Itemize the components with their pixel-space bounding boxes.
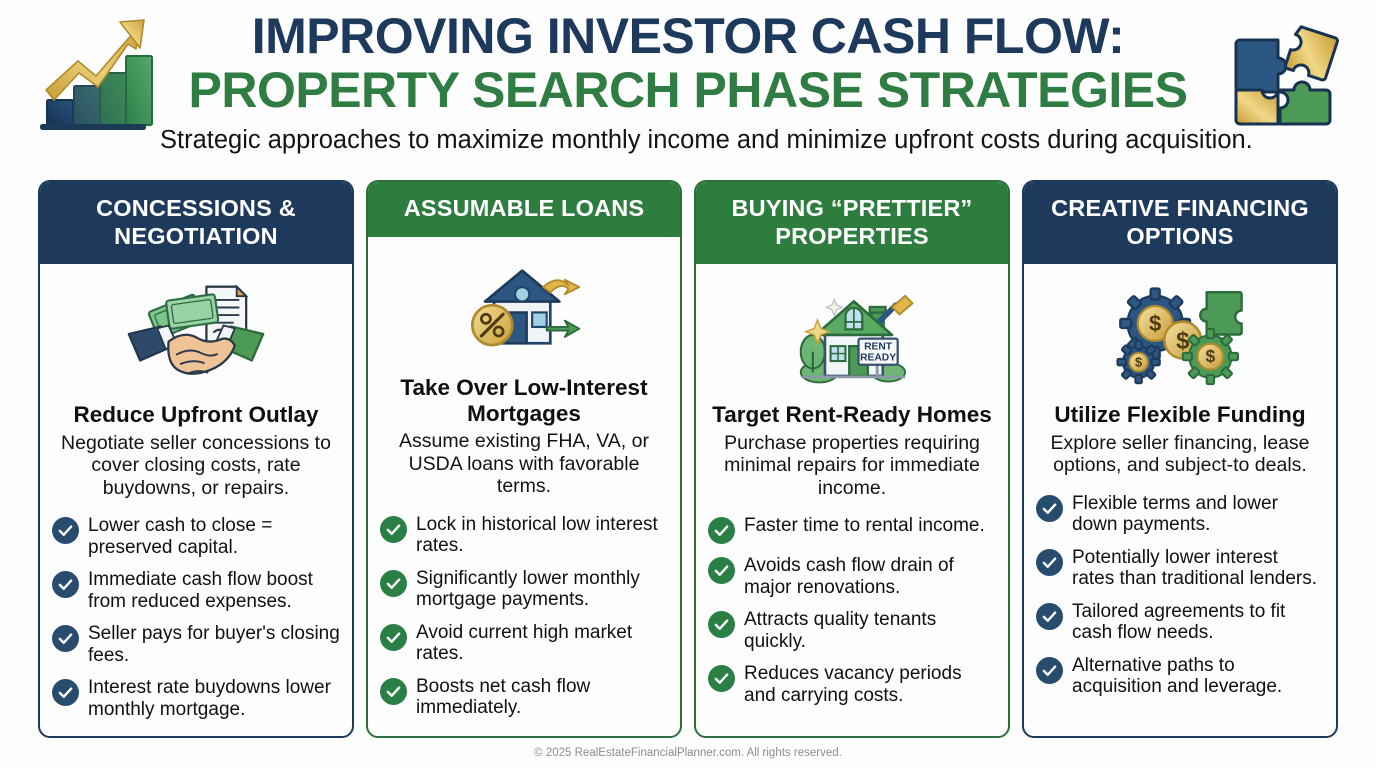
check-circle-icon — [1036, 657, 1063, 684]
list-item: Reduces vacancy periods and carrying cos… — [708, 663, 996, 706]
check-circle-icon — [52, 571, 79, 598]
card-buying-prettier-properties[interactable]: BUYING “PRETTIER” PROPERTIES — [694, 180, 1010, 738]
check-circle-icon — [1036, 495, 1063, 522]
check-circle-icon — [708, 611, 735, 638]
list-item: Attracts quality tenants quickly. — [708, 609, 996, 652]
check-circle-icon — [708, 665, 735, 692]
list-item: Lock in historical low interest rates. — [380, 514, 668, 557]
sign-line1: RENT — [864, 342, 893, 353]
list-item-label: Reduces vacancy periods and carrying cos… — [744, 663, 996, 706]
list-item-label: Attracts quality tenants quickly. — [744, 609, 996, 652]
list-item-label: Seller pays for buyer's closing fees. — [88, 623, 340, 666]
card-title: Target Rent-Ready Homes — [708, 402, 996, 428]
card-bullet-list: Flexible terms and lower down payments. … — [1036, 493, 1324, 724]
check-circle-icon — [380, 624, 407, 651]
card-description: Purchase properties requiring minimal re… — [708, 432, 996, 500]
list-item: Flexible terms and lower down payments. — [1036, 493, 1324, 536]
list-item-label: Interest rate buydowns lower monthly mor… — [88, 677, 340, 720]
check-circle-icon — [708, 517, 735, 544]
svg-text:$: $ — [1149, 311, 1161, 336]
list-item-label: Significantly lower monthly mortgage pay… — [416, 568, 668, 611]
card-concessions-negotiation[interactable]: CONCESSIONS & NEGOTIATION — [38, 180, 354, 738]
card-title: Take Over Low-Interest Mortgages — [380, 375, 668, 427]
check-circle-icon — [380, 678, 407, 705]
card-bullet-list: Faster time to rental income. Avoids cas… — [708, 515, 996, 724]
header: IMPROVING INVESTOR CASH FLOW: PROPERTY S… — [0, 0, 1376, 180]
card-body: RENT READY Target Rent-Ready Homes Purch… — [696, 264, 1008, 736]
card-description: Assume existing FHA, VA, or USDA loans w… — [380, 430, 668, 498]
check-circle-icon — [1036, 603, 1063, 630]
svg-text:$: $ — [1176, 327, 1189, 354]
card-body: $ $ — [1024, 264, 1336, 736]
list-item-label: Potentially lower interest rates than tr… — [1072, 547, 1324, 590]
list-item: Tailored agreements to fit cash flow nee… — [1036, 601, 1324, 644]
card-heading: BUYING “PRETTIER” PROPERTIES — [696, 182, 1008, 264]
card-assumable-loans[interactable]: ASSUMABLE LOANS — [366, 180, 682, 738]
list-item: Significantly lower monthly mortgage pay… — [380, 568, 668, 611]
list-item: Boosts net cash flow immediately. — [380, 676, 668, 719]
check-circle-icon — [1036, 549, 1063, 576]
card-heading: ASSUMABLE LOANS — [368, 182, 680, 237]
list-item: Avoids cash flow drain of major renovati… — [708, 555, 996, 598]
list-item-label: Immediate cash flow boost from reduced e… — [88, 569, 340, 612]
handshake-money-document-icon — [52, 280, 340, 388]
card-creative-financing-options[interactable]: CREATIVE FINANCING OPTIONS — [1022, 180, 1338, 738]
check-circle-icon — [52, 679, 79, 706]
card-description: Negotiate seller concessions to cover cl… — [52, 432, 340, 500]
card-heading: CREATIVE FINANCING OPTIONS — [1024, 182, 1336, 264]
list-item-label: Tailored agreements to fit cash flow nee… — [1072, 601, 1324, 644]
header-titles: IMPROVING INVESTOR CASH FLOW: PROPERTY S… — [160, 10, 1216, 156]
list-item: Interest rate buydowns lower monthly mor… — [52, 677, 340, 720]
card-heading: CONCESSIONS & NEGOTIATION — [40, 182, 352, 264]
card-title: Utilize Flexible Funding — [1036, 402, 1324, 428]
card-title: Reduce Upfront Outlay — [52, 402, 340, 428]
list-item-label: Avoids cash flow drain of major renovati… — [744, 555, 996, 598]
list-item: Faster time to rental income. — [708, 515, 996, 544]
list-item-label: Alternative paths to acquisition and lev… — [1072, 655, 1324, 698]
card-bullet-list: Lock in historical low interest rates. S… — [380, 514, 668, 724]
page-title-line1: IMPROVING INVESTOR CASH FLOW: — [160, 10, 1216, 63]
list-item-label: Lock in historical low interest rates. — [416, 514, 668, 557]
card-body: Take Over Low-Interest Mortgages Assume … — [368, 237, 680, 736]
list-item-label: Lower cash to close = preserved capital. — [88, 515, 340, 558]
footer: © 2025 RealEstateFinancialPlanner.com. A… — [0, 738, 1376, 768]
list-item-label: Boosts net cash flow immediately. — [416, 676, 668, 719]
rent-ready-house-sparkle-icon: RENT READY — [708, 280, 996, 388]
check-circle-icon — [380, 516, 407, 543]
list-item-label: Flexible terms and lower down payments. — [1072, 493, 1324, 536]
list-item: Seller pays for buyer's closing fees. — [52, 623, 340, 666]
sign-line2: READY — [860, 353, 896, 364]
check-circle-icon — [52, 517, 79, 544]
check-circle-icon — [52, 625, 79, 652]
check-circle-icon — [380, 570, 407, 597]
list-item: Potentially lower interest rates than tr… — [1036, 547, 1324, 590]
card-description: Explore seller financing, lease options,… — [1036, 432, 1324, 477]
list-item: Alternative paths to acquisition and lev… — [1036, 655, 1324, 698]
infographic-page: IMPROVING INVESTOR CASH FLOW: PROPERTY S… — [0, 0, 1376, 768]
svg-text:$: $ — [1205, 346, 1215, 366]
page-title-line2: PROPERTY SEARCH PHASE STRATEGIES — [160, 63, 1216, 118]
card-bullet-list: Lower cash to close = preserved capital.… — [52, 515, 340, 724]
copyright-text: © 2025 RealEstateFinancialPlanner.com. A… — [534, 747, 842, 759]
gears-dollar-coins-puzzle-icon: $ $ — [1036, 280, 1324, 388]
list-item: Avoid current high market rates. — [380, 622, 668, 665]
cards-row: CONCESSIONS & NEGOTIATION — [0, 180, 1376, 738]
svg-text:$: $ — [1135, 355, 1142, 370]
card-body: Reduce Upfront Outlay Negotiate seller c… — [40, 264, 352, 736]
check-circle-icon — [708, 557, 735, 584]
growth-bar-chart-arrow-icon — [32, 14, 154, 136]
list-item-label: Avoid current high market rates. — [416, 622, 668, 665]
puzzle-pieces-icon — [1222, 12, 1348, 138]
list-item: Lower cash to close = preserved capital. — [52, 515, 340, 558]
page-subtitle: Strategic approaches to maximize monthly… — [160, 125, 1216, 156]
list-item-label: Faster time to rental income. — [744, 515, 985, 536]
house-percent-arrows-icon — [380, 253, 668, 361]
list-item: Immediate cash flow boost from reduced e… — [52, 569, 340, 612]
